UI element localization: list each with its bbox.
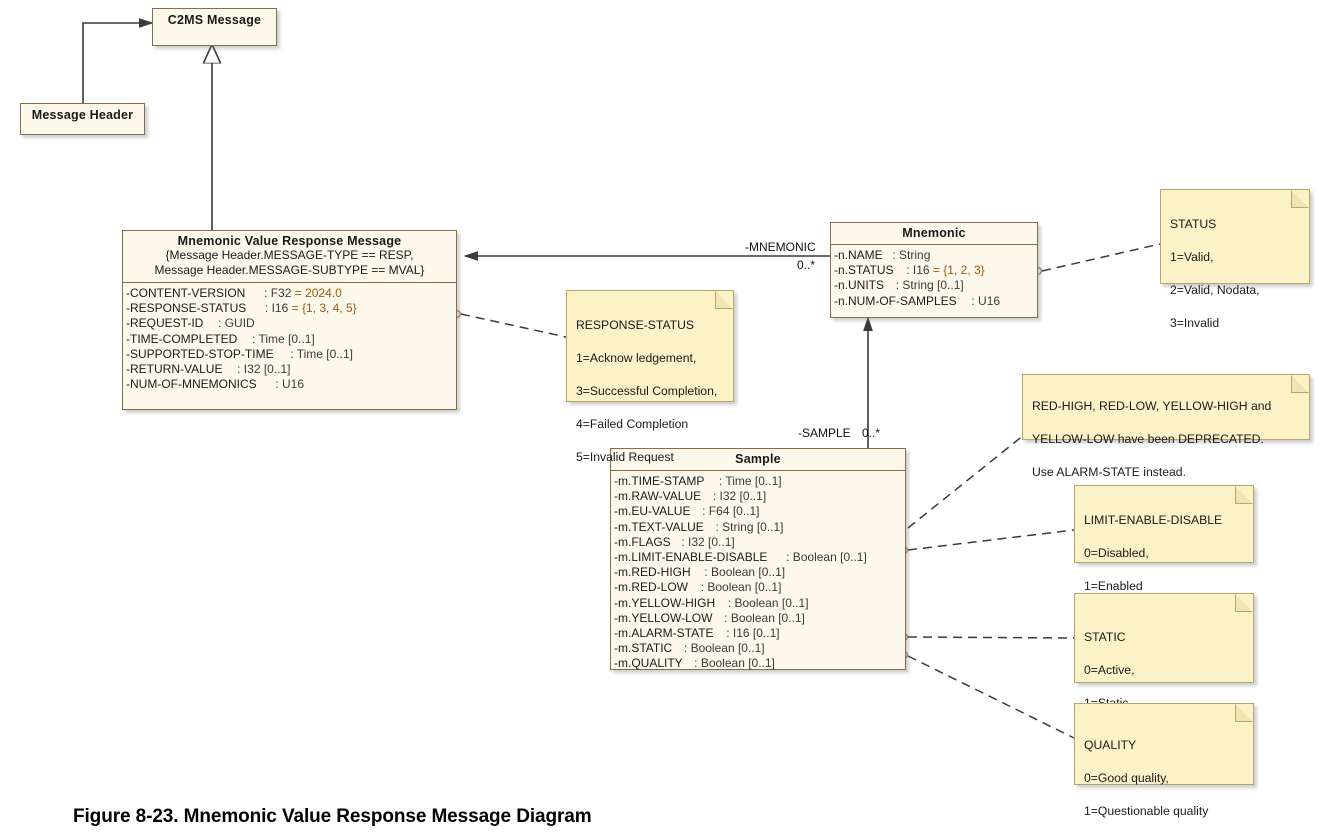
attribute-type: : Boolean [0..1] bbox=[694, 656, 775, 670]
attribute-row: -n.STATUS : I16 = {1, 2, 3} bbox=[834, 263, 1037, 278]
attribute-value: = {1, 3, 4, 5} bbox=[292, 301, 357, 315]
attribute-row: -NUM-OF-MNEMONICS : U16 bbox=[126, 377, 456, 392]
attribute-type: : Boolean [0..1] bbox=[786, 550, 867, 564]
attribute-type: : I32 [0..1] bbox=[237, 362, 290, 376]
attribute-name: -m.RAW-VALUE bbox=[614, 489, 701, 503]
attribute-type: : String bbox=[892, 248, 930, 262]
attribute-row: -CONTENT-VERSION : F32 = 2024.0 bbox=[126, 286, 456, 301]
note-line: 1=Valid, bbox=[1170, 249, 1301, 266]
attribute-row: -m.QUALITY : Boolean [0..1] bbox=[614, 656, 905, 671]
attribute-name: -m.YELLOW-HIGH bbox=[614, 596, 715, 610]
attribute-type: : U16 bbox=[275, 377, 304, 391]
class-header: Mnemonic bbox=[831, 223, 1037, 244]
attribute-name: -m.FLAGS bbox=[614, 535, 671, 549]
class-attributes-mnemonic: -n.NAME : String -n.STATUS : I16 = {1, 2… bbox=[831, 245, 1037, 313]
note-line: QUALITY bbox=[1084, 737, 1245, 754]
attribute-row: -n.UNITS : String [0..1] bbox=[834, 278, 1037, 293]
attribute-type: : Time [0..1] bbox=[290, 347, 353, 361]
note-line: LIMIT-ENABLE-DISABLE bbox=[1084, 512, 1245, 529]
attribute-row: -m.FLAGS : I32 [0..1] bbox=[614, 535, 905, 550]
class-header: C2MS Message bbox=[153, 9, 276, 32]
note-line: 0=Good quality, bbox=[1084, 770, 1245, 787]
attribute-type: : I16 bbox=[906, 263, 929, 277]
attribute-row: -REQUEST-ID : GUID bbox=[126, 316, 456, 331]
class-message-header[interactable]: Message Header bbox=[20, 103, 145, 135]
note-line: 1=Questionable quality bbox=[1084, 803, 1245, 820]
edge-label-sample-role: -SAMPLE bbox=[798, 426, 851, 440]
class-mnemonic-value-response-message[interactable]: Mnemonic Value Response Message {Message… bbox=[122, 230, 457, 410]
class-attributes-sample: -m.TIME-STAMP : Time [0..1] -m.RAW-VALUE… bbox=[611, 471, 905, 676]
note-quality[interactable]: QUALITY 0=Good quality, 1=Questionable q… bbox=[1074, 703, 1254, 785]
attribute-name: -m.EU-VALUE bbox=[614, 504, 690, 518]
attribute-name: -m.YELLOW-LOW bbox=[614, 611, 712, 625]
note-line: 4=Failed Completion bbox=[576, 416, 725, 433]
note-deprecated-fields[interactable]: RED-HIGH, RED-LOW, YELLOW-HIGH and YELLO… bbox=[1022, 374, 1310, 440]
attribute-row: -m.RED-HIGH : Boolean [0..1] bbox=[614, 565, 905, 580]
attribute-row: -RETURN-VALUE : I32 [0..1] bbox=[126, 362, 456, 377]
attribute-name: -n.NAME bbox=[834, 248, 883, 262]
note-line: 2=Valid, Nodata, bbox=[1170, 282, 1301, 299]
attribute-name: -TIME-COMPLETED bbox=[126, 332, 237, 346]
attribute-type: : Time [0..1] bbox=[252, 332, 315, 346]
attribute-type: : Boolean [0..1] bbox=[684, 641, 765, 655]
note-line: STATIC bbox=[1084, 629, 1245, 646]
edge-message-header-to-c2ms bbox=[83, 23, 152, 103]
class-name-message-header: Message Header bbox=[29, 108, 136, 122]
note-body: QUALITY 0=Good quality, 1=Questionable q… bbox=[1075, 704, 1253, 840]
class-constraint-line-1: {Message Header.MESSAGE-TYPE == RESP, bbox=[129, 248, 450, 263]
attribute-name: -n.STATUS bbox=[834, 263, 894, 277]
attribute-row: -m.STATIC : Boolean [0..1] bbox=[614, 641, 905, 656]
class-header: Mnemonic Value Response Message {Message… bbox=[123, 231, 456, 282]
edge-label-sample-multiplicity: 0..* bbox=[862, 426, 880, 440]
attribute-row: -m.RED-LOW : Boolean [0..1] bbox=[614, 580, 905, 595]
note-line: 3=Invalid bbox=[1170, 315, 1301, 332]
attribute-name: -NUM-OF-MNEMONICS bbox=[126, 377, 257, 391]
attribute-type: : Boolean [0..1] bbox=[728, 596, 809, 610]
attribute-name: -SUPPORTED-STOP-TIME bbox=[126, 347, 274, 361]
attribute-row: -TIME-COMPLETED : Time [0..1] bbox=[126, 332, 456, 347]
edge-label-mnemonic-role: -MNEMONIC bbox=[745, 240, 816, 254]
class-constraint-line-2: Message Header.MESSAGE-SUBTYPE == MVAL} bbox=[129, 263, 450, 278]
attribute-row: -n.NAME : String bbox=[834, 248, 1037, 263]
attribute-name: -n.UNITS bbox=[834, 278, 884, 292]
class-name-response-message: Mnemonic Value Response Message bbox=[129, 234, 450, 248]
attribute-value: = 2024.0 bbox=[295, 286, 342, 300]
attribute-type: : String [0..1] bbox=[896, 278, 964, 292]
attribute-type: : String [0..1] bbox=[715, 520, 783, 534]
attribute-type: : I32 [0..1] bbox=[713, 489, 766, 503]
attribute-type: : I16 bbox=[265, 301, 288, 315]
note-line: 5=Invalid Request bbox=[576, 449, 725, 466]
note-line: 1=Enabled bbox=[1084, 578, 1245, 595]
figure-caption: Figure 8-23. Mnemonic Value Response Mes… bbox=[73, 806, 592, 828]
attribute-row: -m.EU-VALUE : F64 [0..1] bbox=[614, 504, 905, 519]
attribute-row: -RESPONSE-STATUS : I16 = {1, 3, 4, 5} bbox=[126, 301, 456, 316]
note-line: Use ALARM-STATE instead. bbox=[1032, 464, 1301, 481]
note-status[interactable]: STATUS 1=Valid, 2=Valid, Nodata, 3=Inval… bbox=[1160, 189, 1310, 284]
attribute-row: -m.ALARM-STATE : I16 [0..1] bbox=[614, 626, 905, 641]
note-line: 0=Active, bbox=[1084, 662, 1245, 679]
attribute-name: -RESPONSE-STATUS bbox=[126, 301, 246, 315]
attribute-name: -n.NUM-OF-SAMPLES bbox=[834, 294, 957, 308]
attribute-type: : Boolean [0..1] bbox=[701, 580, 782, 594]
attribute-name: -CONTENT-VERSION bbox=[126, 286, 245, 300]
attribute-row: -m.TEXT-VALUE : String [0..1] bbox=[614, 520, 905, 535]
attribute-name: -m.LIMIT-ENABLE-DISABLE bbox=[614, 550, 767, 564]
note-line: RESPONSE-STATUS bbox=[576, 317, 725, 334]
class-mnemonic[interactable]: Mnemonic -n.NAME : String -n.STATUS : I1… bbox=[830, 222, 1038, 318]
note-line: RED-HIGH, RED-LOW, YELLOW-HIGH and bbox=[1032, 398, 1301, 415]
attribute-name: -REQUEST-ID bbox=[126, 316, 203, 330]
note-limit-enable-disable[interactable]: LIMIT-ENABLE-DISABLE 0=Disabled, 1=Enabl… bbox=[1074, 485, 1254, 563]
note-line: 3=Successful Completion, bbox=[576, 383, 725, 400]
attribute-name: -m.RED-HIGH bbox=[614, 565, 691, 579]
note-response-status[interactable]: RESPONSE-STATUS 1=Acknow ledgement, 3=Su… bbox=[566, 290, 734, 402]
attribute-name: -RETURN-VALUE bbox=[126, 362, 222, 376]
attribute-type: : F64 [0..1] bbox=[702, 504, 759, 518]
diagram-canvas: C2MS Message Message Header Mnemonic Val… bbox=[0, 0, 1324, 840]
class-name-c2ms-message: C2MS Message bbox=[161, 13, 268, 27]
attribute-row: -SUPPORTED-STOP-TIME : Time [0..1] bbox=[126, 347, 456, 362]
attribute-type: : I32 [0..1] bbox=[681, 535, 734, 549]
class-attributes-response-message: -CONTENT-VERSION : F32 = 2024.0 -RESPONS… bbox=[123, 283, 456, 396]
attribute-value: = {1, 2, 3} bbox=[933, 263, 985, 277]
attribute-row: -n.NUM-OF-SAMPLES : U16 bbox=[834, 294, 1037, 309]
class-c2ms-message[interactable]: C2MS Message bbox=[152, 8, 277, 46]
attribute-type: : Boolean [0..1] bbox=[704, 565, 785, 579]
class-name-mnemonic: Mnemonic bbox=[837, 226, 1031, 240]
attribute-name: -m.TEXT-VALUE bbox=[614, 520, 704, 534]
note-body: RESPONSE-STATUS 1=Acknow ledgement, 3=Su… bbox=[567, 291, 733, 489]
class-header: Message Header bbox=[21, 104, 144, 127]
attribute-type: : F32 bbox=[264, 286, 291, 300]
attribute-type: : I16 [0..1] bbox=[726, 626, 779, 640]
attribute-type: : U16 bbox=[971, 294, 1000, 308]
attribute-row: -m.YELLOW-LOW : Boolean [0..1] bbox=[614, 611, 905, 626]
attribute-name: -m.QUALITY bbox=[614, 656, 682, 670]
note-static[interactable]: STATIC 0=Active, 1=Static bbox=[1074, 593, 1254, 683]
attribute-row: -m.RAW-VALUE : I32 [0..1] bbox=[614, 489, 905, 504]
note-line: STATUS bbox=[1170, 216, 1301, 233]
note-line: 0=Disabled, bbox=[1084, 545, 1245, 562]
attribute-name: -m.ALARM-STATE bbox=[614, 626, 714, 640]
attribute-name: -m.RED-LOW bbox=[614, 580, 688, 594]
attribute-type: : Boolean [0..1] bbox=[724, 611, 805, 625]
note-line: YELLOW-LOW have been DEPRECATED. bbox=[1032, 431, 1301, 448]
note-body: STATUS 1=Valid, 2=Valid, Nodata, 3=Inval… bbox=[1161, 190, 1309, 355]
attribute-type: : GUID bbox=[218, 316, 255, 330]
edge-label-mnemonic-multiplicity: 0..* bbox=[797, 258, 815, 272]
note-line: 1=Acknow ledgement, bbox=[576, 350, 725, 367]
attribute-row: -m.LIMIT-ENABLE-DISABLE : Boolean [0..1] bbox=[614, 550, 905, 565]
attribute-name: -m.STATIC bbox=[614, 641, 672, 655]
attribute-row: -m.YELLOW-HIGH : Boolean [0..1] bbox=[614, 596, 905, 611]
